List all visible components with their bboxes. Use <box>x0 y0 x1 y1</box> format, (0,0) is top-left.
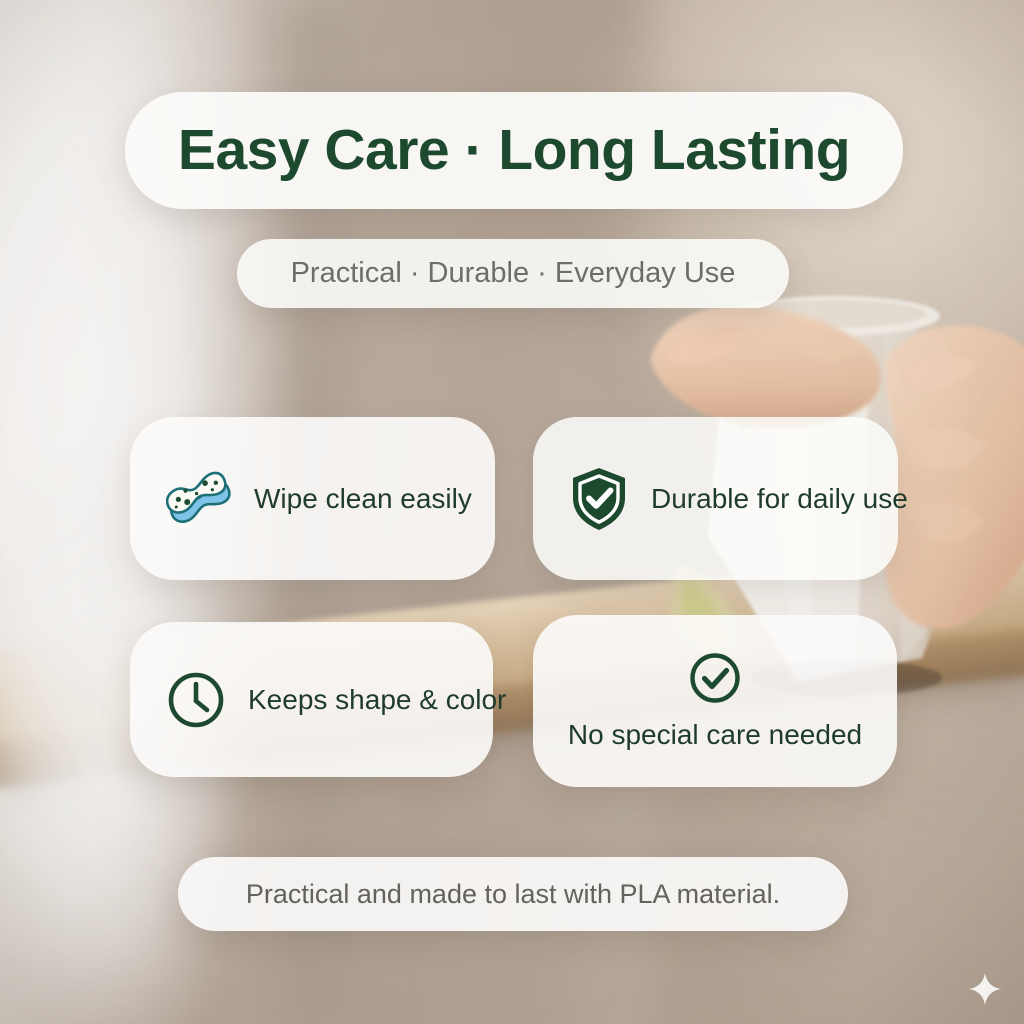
page-title: Easy Care · Long Lasting <box>178 122 850 179</box>
clock-icon <box>166 670 226 730</box>
feature-card-wipe-clean[interactable]: Wipe clean easily <box>130 417 495 580</box>
sparkle-icon <box>968 972 1002 1006</box>
feature-label: Durable for daily use <box>651 483 908 515</box>
footer-caption: Practical and made to last with PLA mate… <box>246 879 780 910</box>
shield-check-icon <box>569 466 629 532</box>
overlay-content: Easy Care · Long Lasting Practical · Dur… <box>0 0 1024 1024</box>
page-subtitle: Practical · Durable · Everyday Use <box>291 257 736 290</box>
title-card: Easy Care · Long Lasting <box>125 92 903 209</box>
feature-label: Wipe clean easily <box>254 483 472 515</box>
feature-card-no-special-care[interactable]: No special care needed <box>533 615 897 787</box>
sponge-icon <box>166 469 232 529</box>
subtitle-card: Practical · Durable · Everyday Use <box>237 239 789 308</box>
feature-label: Keeps shape & color <box>248 684 506 716</box>
feature-card-durable[interactable]: Durable for daily use <box>533 417 898 580</box>
footer-card: Practical and made to last with PLA mate… <box>178 857 848 931</box>
feature-card-keeps-shape[interactable]: Keeps shape & color <box>130 622 493 777</box>
feature-label: No special care needed <box>568 719 862 751</box>
check-circle-icon <box>688 651 742 705</box>
